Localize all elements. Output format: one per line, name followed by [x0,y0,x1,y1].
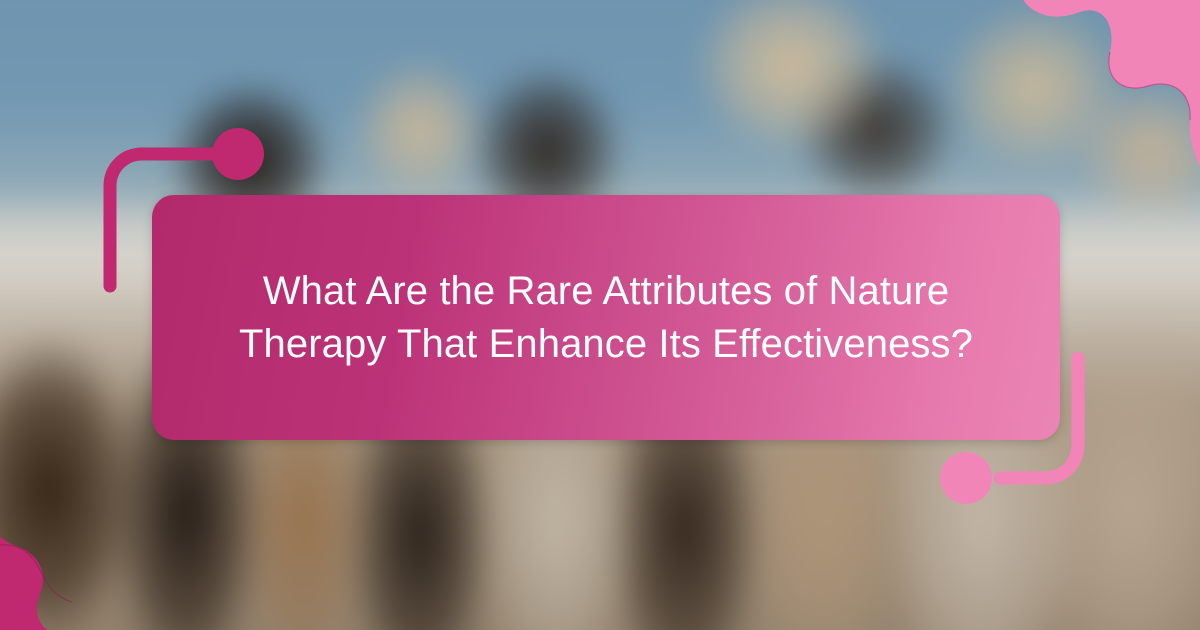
title-card: What Are the Rare Attributes of Nature T… [152,195,1060,440]
accent-circle-bottom-right [940,452,992,504]
og-card-canvas: What Are the Rare Attributes of Nature T… [0,0,1200,630]
organic-blob-bottom-left [0,430,210,630]
accent-circle-top-left [212,128,264,180]
page-title: What Are the Rare Attributes of Nature T… [174,265,1038,371]
organic-blob-top-right [976,0,1200,200]
